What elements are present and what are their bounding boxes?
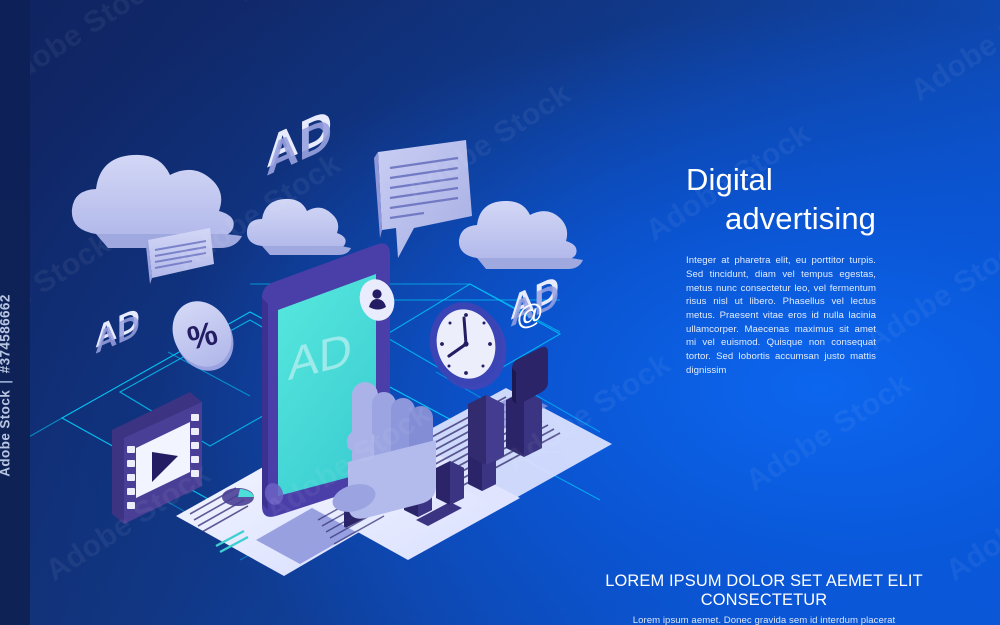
stock-separator: | — [0, 380, 13, 384]
footer-subline: Lorem ipsum aemet. Donec gravida sem id … — [540, 615, 988, 625]
speech-bubble-icon — [374, 140, 472, 258]
heading-line-1: Digital — [686, 162, 773, 197]
svg-text:@: @ — [516, 296, 543, 333]
clock-icon — [421, 295, 515, 398]
isometric-artwork: AD AD AD AD AD AD — [0, 0, 700, 625]
heading-line-2: advertising — [686, 199, 876, 238]
footer-headline: LOREM IPSUM DOLOR SET AEMET ELIT CONSECT… — [540, 572, 988, 610]
watermark-text: Adobe Stock — [940, 457, 1000, 588]
stock-label: Adobe Stock — [0, 390, 13, 477]
copy-block: Digital advertising Integer at pharetra … — [686, 160, 876, 387]
stock-id: #374586662 — [0, 294, 13, 373]
watermark-text: Adobe Stock — [860, 227, 1000, 358]
email-icon: @ — [512, 296, 548, 405]
percent-badge-icon: % — [161, 291, 244, 381]
watermark-text: Adobe Stock — [905, 0, 1000, 109]
stock-credit: Adobe Stock | #374586662 — [0, 176, 13, 596]
cloud-icon — [247, 199, 351, 255]
cloud-icon — [72, 155, 242, 248]
illustration-canvas: AD AD AD AD AD AD — [0, 0, 1000, 625]
footer-block: LOREM IPSUM DOLOR SET AEMET ELIT CONSECT… — [540, 572, 988, 625]
video-player-icon — [112, 392, 202, 524]
cloud-icon — [459, 201, 583, 269]
stock-sidebar: Adobe Stock | #374586662 — [0, 0, 30, 625]
body-paragraph: Integer at pharetra elit, eu porttitor t… — [686, 254, 876, 377]
page-title: Digital advertising — [686, 160, 876, 238]
